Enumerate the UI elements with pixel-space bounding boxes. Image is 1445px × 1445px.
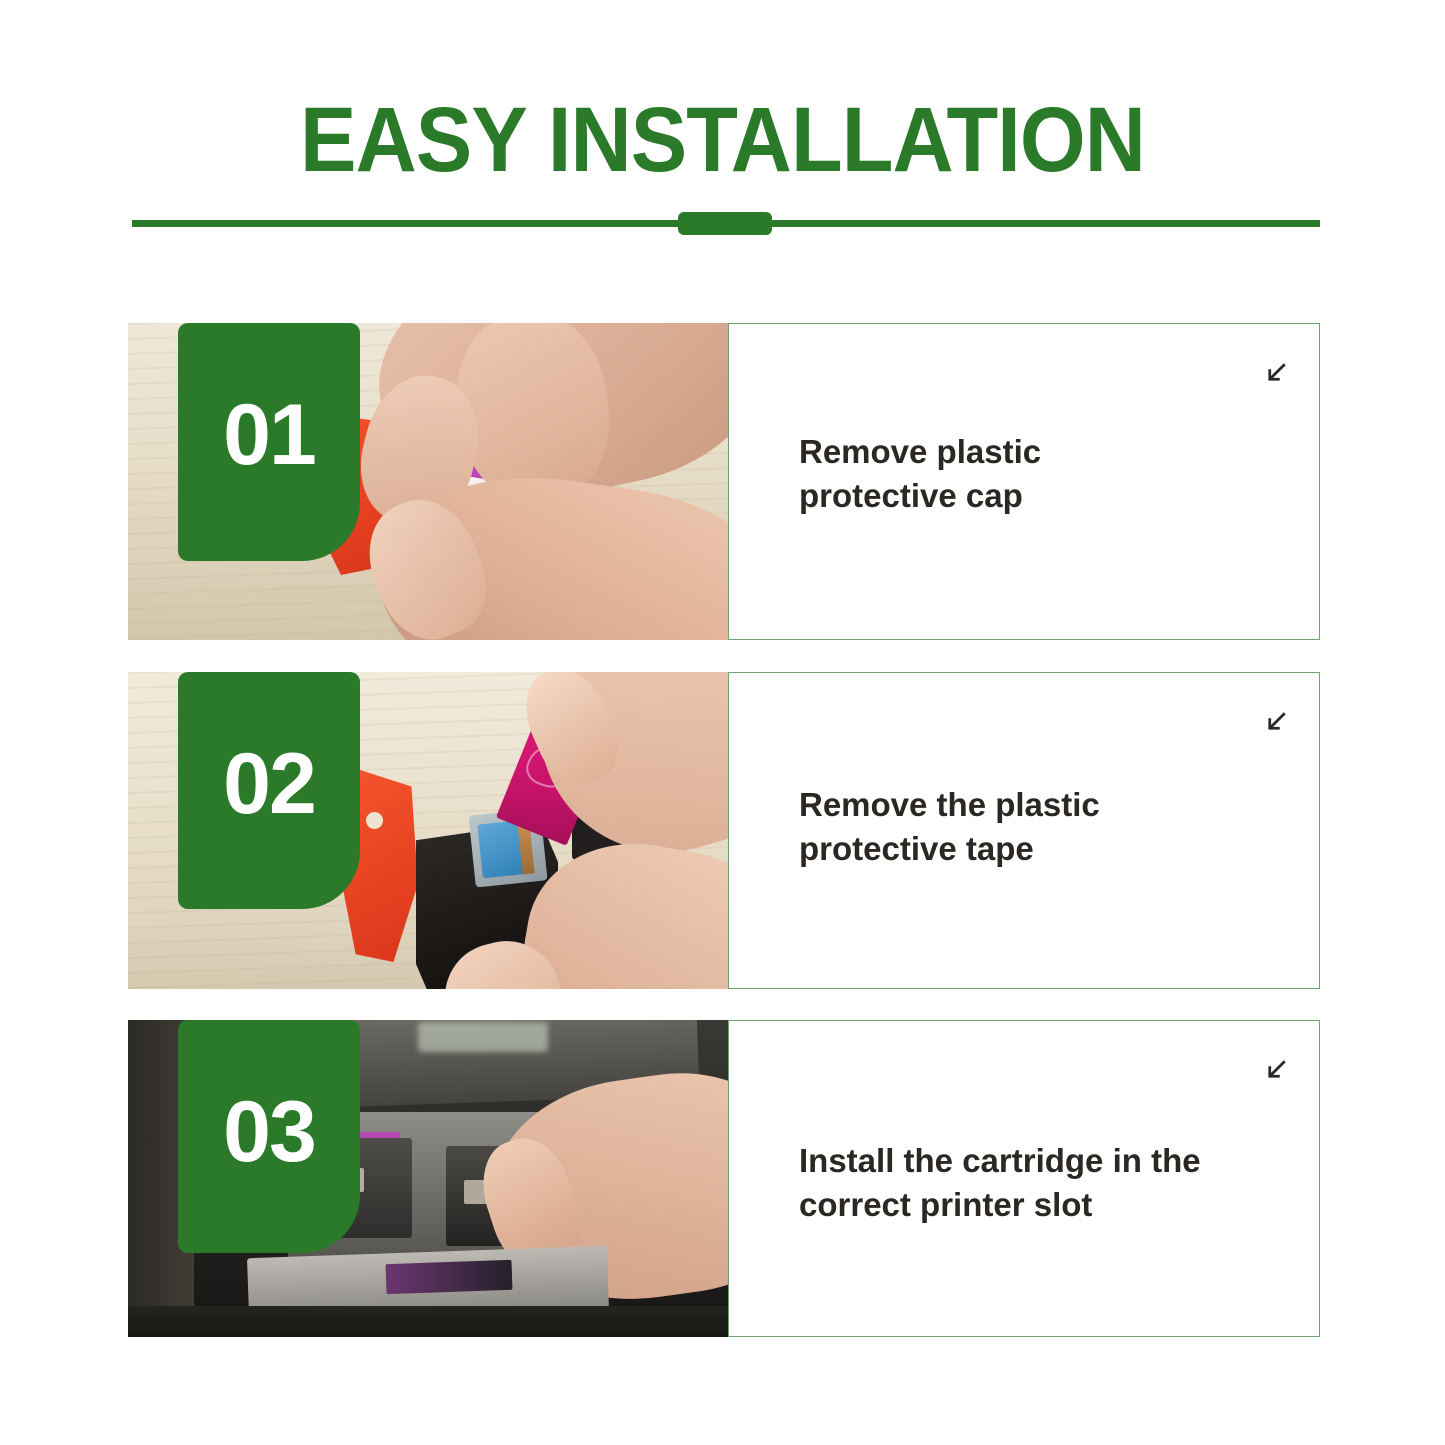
step-2-line-1: Remove the plastic (799, 783, 1279, 827)
divider-knob (678, 212, 772, 235)
step-card-3: 03 Install the cartridge in the correct … (128, 1020, 1320, 1337)
step-1-line-1: Remove plastic (799, 430, 1279, 474)
step-number-badge-1: 01 (178, 323, 360, 561)
step-1-text-panel: Remove plastic protective cap (728, 323, 1320, 640)
page-title: EASY INSTALLATION (58, 92, 1387, 188)
step-2-line-2: protective tape (799, 827, 1279, 871)
step-number-1: 01 (178, 323, 360, 561)
cap-vent-hole (366, 812, 383, 829)
step-number-2: 02 (178, 672, 360, 910)
step-3-description: Install the cartridge in the correct pri… (799, 1139, 1299, 1227)
step-3-line-1: Install the cartridge in the (799, 1139, 1299, 1183)
printer-base (128, 1306, 728, 1337)
step-2-text-panel: Remove the plastic protective tape (728, 672, 1320, 989)
step-number-badge-3: 03 (178, 1020, 360, 1253)
step-card-1: 01 Remove plastic protective cap (128, 323, 1320, 640)
arrow-down-left-icon (1261, 707, 1291, 737)
arrow-down-left-icon (1261, 358, 1291, 388)
step-card-2: 02 Remove the plastic protective tape (128, 672, 1320, 989)
step-2-description: Remove the plastic protective tape (799, 783, 1279, 871)
step-number-3: 03 (178, 1020, 360, 1258)
arrow-down-left-icon (1261, 1055, 1291, 1085)
tray-sticker (386, 1260, 513, 1294)
step-3-line-2: correct printer slot (799, 1183, 1299, 1227)
step-1-line-2: protective cap (799, 474, 1279, 518)
step-3-text-panel: Install the cartridge in the correct pri… (728, 1020, 1320, 1337)
step-number-badge-2: 02 (178, 672, 360, 909)
title-divider (132, 212, 1320, 234)
lid-reflection (418, 1022, 548, 1052)
easy-installation-infographic: EASY INSTALLATION 01 (0, 0, 1445, 1445)
step-1-description: Remove plastic protective cap (799, 430, 1279, 518)
